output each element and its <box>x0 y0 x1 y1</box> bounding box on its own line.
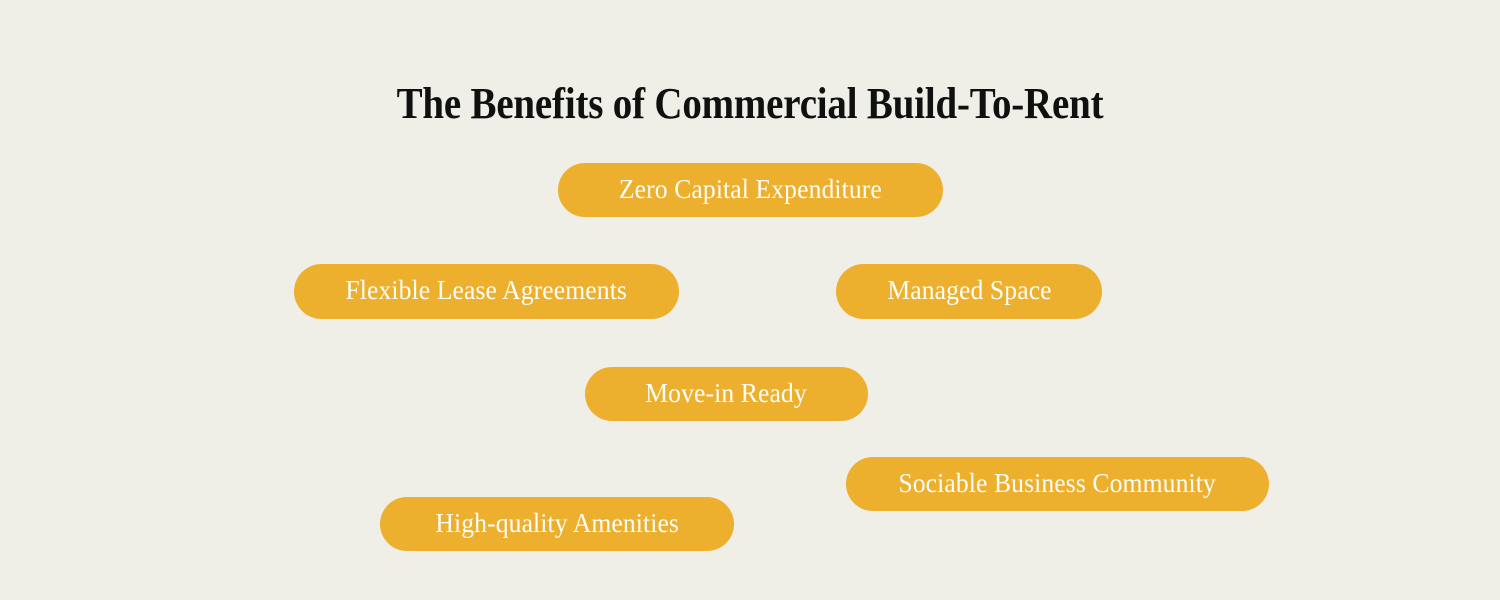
benefit-pill-label: Flexible Lease Agreements <box>346 277 628 306</box>
benefit-pill-managed-space[interactable]: Managed Space <box>836 264 1102 319</box>
benefit-pill-label: Managed Space <box>887 277 1051 306</box>
benefit-pill-label: Move-in Ready <box>646 380 808 409</box>
benefit-pill-high-quality-amenities[interactable]: High-quality Amenities <box>380 497 734 551</box>
benefit-pill-label: Sociable Business Community <box>899 470 1216 499</box>
benefit-pill-move-in-ready[interactable]: Move-in Ready <box>585 367 868 421</box>
infographic-canvas: The Benefits of Commercial Build-To-Rent… <box>0 0 1500 600</box>
benefit-pill-label: Zero Capital Expenditure <box>619 176 882 205</box>
benefit-pill-flexible-lease-agreements[interactable]: Flexible Lease Agreements <box>294 264 679 319</box>
benefit-pill-zero-capital-expenditure[interactable]: Zero Capital Expenditure <box>558 163 943 217</box>
page-title: The Benefits of Commercial Build-To-Rent <box>86 75 1414 133</box>
benefit-pill-sociable-business-community[interactable]: Sociable Business Community <box>846 457 1269 511</box>
benefit-pill-label: High-quality Amenities <box>435 510 679 539</box>
